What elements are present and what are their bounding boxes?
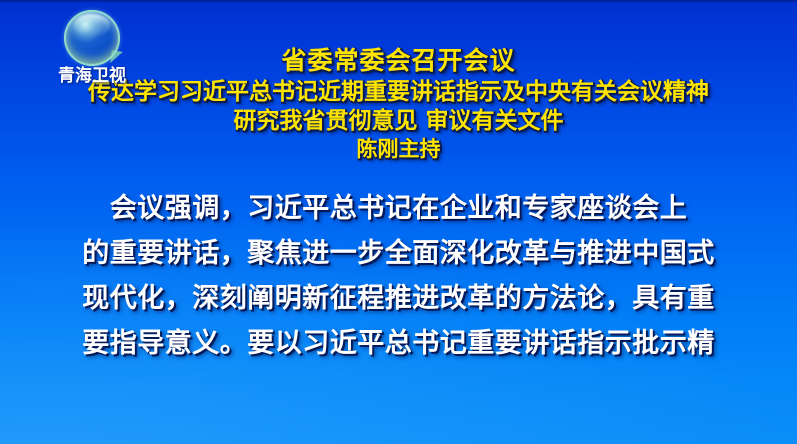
broadcast-news-screen: 青海卫视 省委常委会召开会议 传达学习习近平总书记近期重要讲话指示及中央有关会议…: [0, 0, 797, 444]
body-line: 现代化，深刻阐明新征程推进改革的方法论，具有重: [0, 276, 797, 321]
headline-line-4: 陈刚主持: [0, 139, 797, 160]
headline-line-3: 研究我省贯彻意见 审议有关文件: [0, 110, 797, 133]
body-line: 要指导意义。要以习近平总书记重要讲话指示批示精: [0, 321, 797, 366]
channel-logo: 青海卫视: [44, 10, 140, 88]
body-text-block: 会议强调，习近平总书记在企业和专家座谈会上 的重要讲话，聚焦进一步全面深化改革与…: [0, 186, 797, 366]
body-line: 会议强调，习近平总书记在企业和专家座谈会上: [0, 186, 797, 231]
top-edge-divider: [0, 0, 797, 2]
speech-bubble-orb-icon: [64, 10, 120, 66]
orb-highlight: [74, 14, 111, 36]
body-line: 的重要讲话，聚焦进一步全面深化改革与推进中国式: [0, 231, 797, 276]
channel-name-label: 青海卫视: [44, 66, 140, 86]
